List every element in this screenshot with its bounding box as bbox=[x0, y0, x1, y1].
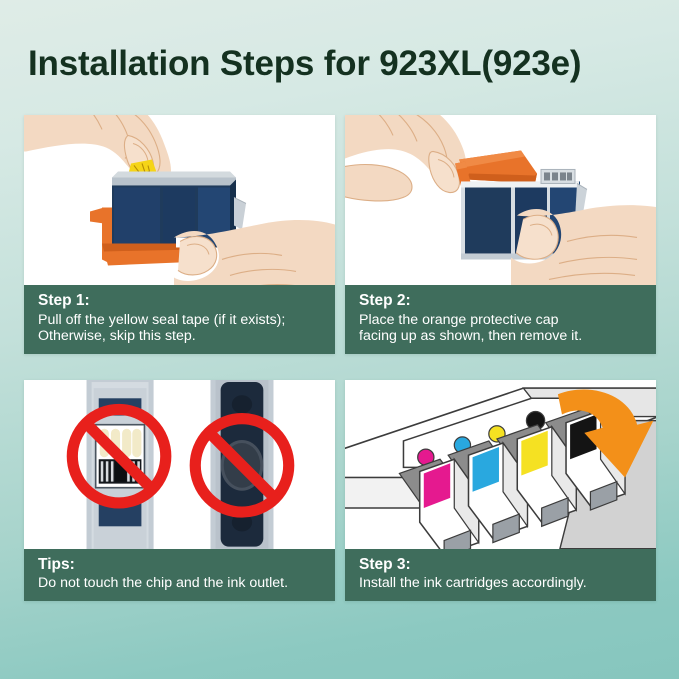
caption-line-1: Place the orange protective cap bbox=[359, 312, 645, 329]
panel-step-1: Step 1: Pull off the yellow seal tape (i… bbox=[24, 115, 335, 354]
caption-step-3: Step 3: Install the ink cartridges accor… bbox=[345, 549, 656, 601]
page-title: Installation Steps for 923XL(923e) bbox=[28, 44, 658, 84]
caption-heading: Step 2: bbox=[359, 292, 645, 311]
caption-body: Place the orange protective cap facing u… bbox=[359, 312, 645, 346]
caption-body: Pull off the yellow seal tape (if it exi… bbox=[38, 312, 324, 346]
caption-heading: Step 3: bbox=[359, 556, 645, 575]
illustration-tips bbox=[24, 380, 335, 549]
panel-step-2: Step 2: Place the orange protective cap … bbox=[345, 115, 656, 354]
caption-body: Do not touch the chip and the ink outlet… bbox=[38, 575, 324, 592]
caption-step-1: Step 1: Pull off the yellow seal tape (i… bbox=[24, 285, 335, 354]
caption-line-1: Do not touch the chip and the ink outlet… bbox=[38, 575, 324, 592]
infographic-page: Installation Steps for 923XL(923e) bbox=[0, 0, 679, 679]
caption-body: Install the ink cartridges accordingly. bbox=[359, 575, 645, 592]
cartridge-chip bbox=[541, 169, 575, 183]
illustration-step-3 bbox=[345, 380, 656, 549]
caption-line-2: facing up as shown, then remove it. bbox=[359, 328, 645, 345]
panel-step-3: Step 3: Install the ink cartridges accor… bbox=[345, 380, 656, 601]
caption-heading: Step 1: bbox=[38, 292, 324, 311]
caption-heading: Tips: bbox=[38, 556, 324, 575]
caption-line-1: Install the ink cartridges accordingly. bbox=[359, 575, 645, 592]
caption-line-2: Otherwise, skip this step. bbox=[38, 328, 324, 345]
panel-tips: Tips: Do not touch the chip and the ink … bbox=[24, 380, 335, 601]
illustration-step-2 bbox=[345, 115, 656, 285]
caption-tips: Tips: Do not touch the chip and the ink … bbox=[24, 549, 335, 601]
hand-right bbox=[511, 205, 656, 285]
caption-step-2: Step 2: Place the orange protective cap … bbox=[345, 285, 656, 354]
caption-line-1: Pull off the yellow seal tape (if it exi… bbox=[38, 312, 324, 329]
illustration-step-1 bbox=[24, 115, 335, 285]
